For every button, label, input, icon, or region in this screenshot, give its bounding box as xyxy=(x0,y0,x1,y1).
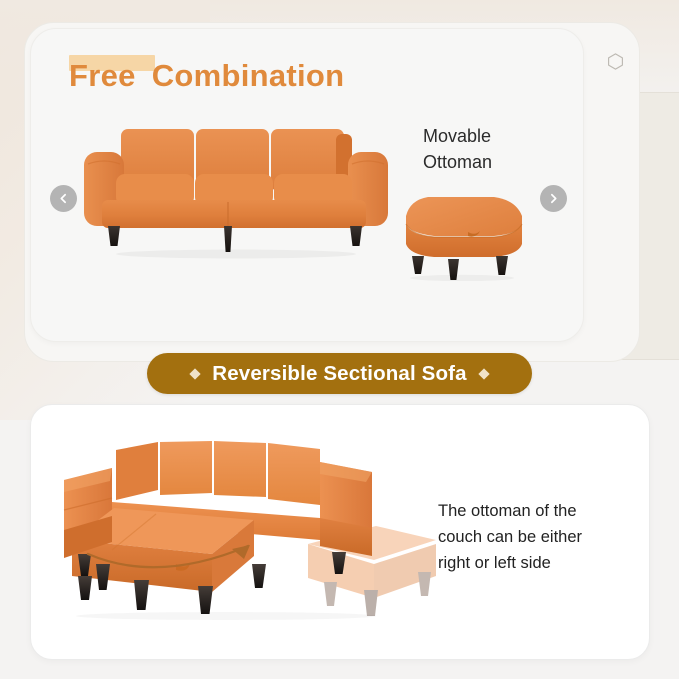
title-word-free: Free xyxy=(69,58,136,93)
carousel-next-button[interactable] xyxy=(540,185,567,212)
movable-ottoman-label: Movable Ottoman xyxy=(423,123,492,175)
top-ottoman-image xyxy=(396,186,536,281)
badge-label: Reversible Sectional Sofa xyxy=(212,362,466,386)
chevron-right-icon xyxy=(547,192,560,205)
diamond-bullet-left xyxy=(190,368,201,379)
movable-ottoman-label-line1: Movable xyxy=(423,123,492,149)
page-title: FreeCombination xyxy=(69,53,344,99)
movable-ottoman-label-line2: Ottoman xyxy=(423,149,492,175)
bottom-sectional-image xyxy=(56,432,446,622)
bottom-caption-line2: couch can be either xyxy=(438,524,648,550)
carousel-prev-button[interactable] xyxy=(50,185,77,212)
hexagon-icon xyxy=(604,50,627,73)
diamond-bullet-right xyxy=(478,368,489,379)
bottom-caption-line1: The ottoman of the xyxy=(438,498,648,524)
status-badge: Reversible Sectional Sofa xyxy=(147,353,532,394)
bottom-caption-line3: right or left side xyxy=(438,550,648,576)
title-word-combination: Combination xyxy=(152,58,345,93)
chevron-left-icon xyxy=(57,192,70,205)
product-infographic: FreeCombination Movable Ottoman xyxy=(0,0,679,679)
top-sofa-image xyxy=(78,112,398,272)
bottom-caption: The ottoman of the couch can be either r… xyxy=(438,498,648,576)
